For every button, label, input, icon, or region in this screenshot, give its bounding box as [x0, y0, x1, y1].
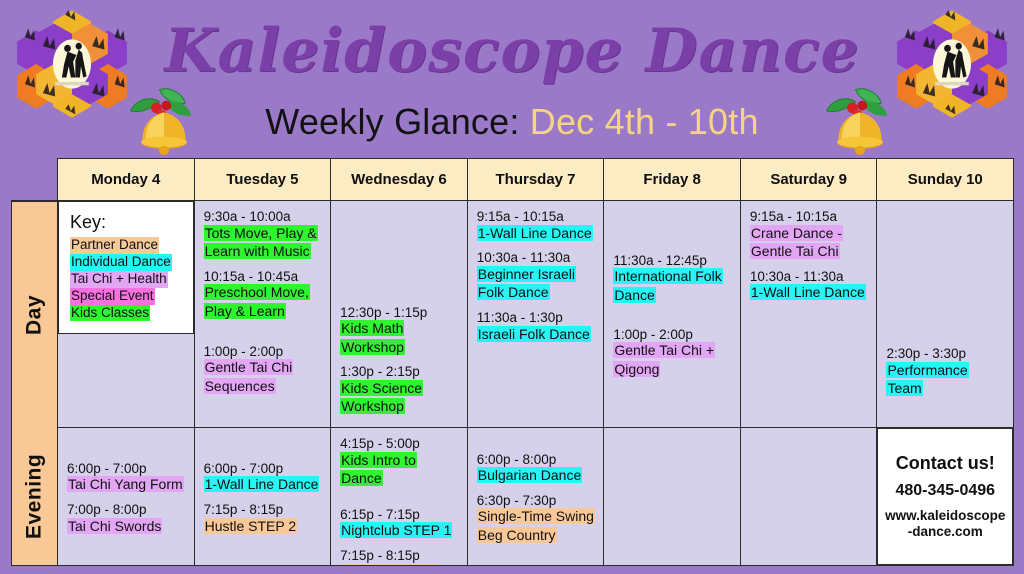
event-time: 6:30p - 7:30p	[477, 493, 595, 509]
cell-saturday-evening	[741, 428, 877, 565]
cell-monday-evening: 6:00p - 7:00p Tai Chi Yang Form 7:00p - …	[58, 428, 194, 565]
event-name: Kids Science Workshop	[340, 380, 423, 415]
event-time: 6:00p - 7:00p	[67, 461, 185, 477]
key-item-tai-chi-health: Tai Chi + Health	[70, 271, 168, 288]
column-wednesday: 12:30p - 1:15p Kids Math Workshop 1:30p …	[331, 201, 468, 565]
event-time: 10:15a - 10:45a	[204, 269, 322, 285]
event-name: Kids Intro to Dance	[340, 452, 417, 487]
event-name: Nightclub STEP 1	[340, 522, 452, 538]
contact-website[interactable]: www.kaleidoscope -dance.com	[885, 508, 1005, 540]
event-item[interactable]: 11:30a - 1:30p Israeli Folk Dance	[477, 310, 595, 344]
event-name: Kids Math Workshop	[340, 320, 405, 355]
event-time: 10:30a - 11:30a	[750, 269, 868, 285]
event-time: 9:30a - 10:00a	[204, 209, 322, 225]
event-item[interactable]: 7:00p - 8:00p Tai Chi Swords	[67, 502, 185, 536]
event-name: Tai Chi Swords	[67, 518, 162, 534]
contact-phone[interactable]: 480-345-0496	[895, 482, 995, 500]
event-name: Crane Dance - Gentle Tai Chi	[750, 225, 843, 260]
key-item-individual-dance: Individual Dance	[70, 254, 172, 271]
legend-key-box: Key: Partner Dance Individual Dance Tai …	[58, 201, 194, 334]
column-saturday: 9:15a - 10:15a Crane Dance - Gentle Tai …	[741, 201, 878, 565]
event-name: Preschool Move, Play & Learn	[204, 284, 310, 319]
event-item[interactable]: 6:00p - 8:00p Bulgarian Dance	[477, 452, 595, 486]
cell-thursday-evening: 6:00p - 8:00p Bulgarian Dance 6:30p - 7:…	[468, 428, 604, 565]
event-time: 6:00p - 7:00p	[204, 461, 322, 477]
event-name: Bulgarian Dance	[477, 467, 583, 483]
event-item[interactable]: 6:15p - 7:15p Nightclub STEP 1	[340, 507, 458, 541]
cell-friday-day: 11:30a - 12:45p International Folk Dance…	[604, 201, 740, 428]
cell-sunday-day: 2:30p - 3:30p Performance Team	[877, 201, 1013, 428]
subtitle-label: Weekly Glance:	[265, 101, 519, 142]
event-time: 6:00p - 8:00p	[477, 452, 595, 468]
cell-thursday-day: 9:15a - 10:15a 1-Wall Line Dance 10:30a …	[468, 201, 604, 428]
event-name: 1-Wall Line Dance	[204, 476, 320, 492]
contact-heading: Contact us!	[896, 453, 995, 474]
event-item[interactable]: 1:30p - 2:15p Kids Science Workshop	[340, 364, 458, 417]
event-name: International Folk Dance	[613, 268, 722, 303]
event-item[interactable]: 7:15p - 8:15p Foxtrot STEP 2	[340, 548, 458, 565]
schedule-body: Day Evening Key: Partner Dance Individua…	[11, 200, 1014, 566]
cell-monday-day: Key: Partner Dance Individual Dance Tai …	[58, 201, 194, 428]
cell-saturday-day: 9:15a - 10:15a Crane Dance - Gentle Tai …	[741, 201, 877, 428]
cell-tuesday-day: 9:30a - 10:00a Tots Move, Play & Learn w…	[195, 201, 331, 428]
key-item-partner-dance: Partner Dance	[70, 237, 159, 254]
event-name: Tots Move, Play & Learn with Music	[204, 225, 318, 260]
event-item[interactable]: 4:15p - 5:00p Kids Intro to Dance	[340, 436, 458, 489]
event-time: 1:00p - 2:00p	[204, 344, 322, 360]
column-monday: Key: Partner Dance Individual Dance Tai …	[58, 201, 195, 565]
page-title: Kaleidoscope Dance	[0, 16, 1024, 86]
event-item[interactable]: 1:00p - 2:00p Gentle Tai Chi + Qigong	[613, 327, 731, 380]
subtitle-dates: Dec 4th - 10th	[530, 101, 759, 142]
event-time: 9:15a - 10:15a	[477, 209, 595, 225]
event-name: Single-Time Swing Beg Country	[477, 508, 595, 543]
event-name: Beginner Israeli Folk Dance	[477, 266, 576, 301]
event-time: 9:15a - 10:15a	[750, 209, 868, 225]
event-item[interactable]: 9:15a - 10:15a 1-Wall Line Dance	[477, 209, 595, 243]
event-name: Hustle STEP 2	[204, 518, 298, 534]
day-columns: Key: Partner Dance Individual Dance Tai …	[58, 201, 1013, 565]
event-time: 1:00p - 2:00p	[613, 327, 731, 343]
event-item[interactable]: 6:30p - 7:30p Single-Time Swing Beg Coun…	[477, 493, 595, 546]
event-name: Foxtrot STEP 2	[340, 564, 437, 565]
event-time: 6:15p - 7:15p	[340, 507, 458, 523]
cell-sunday-evening: Contact us! 480-345-0496 www.kaleidoscop…	[877, 428, 1013, 565]
event-item[interactable]: 9:30a - 10:00a Tots Move, Play & Learn w…	[204, 209, 322, 262]
column-header-wednesday: Wednesday 6	[331, 159, 468, 200]
event-item[interactable]: 7:15p - 8:15p Hustle STEP 2	[204, 502, 322, 536]
event-name: 1-Wall Line Dance	[477, 225, 593, 241]
page-subtitle: Weekly Glance: Dec 4th - 10th	[0, 101, 1024, 143]
cell-friday-evening	[604, 428, 740, 565]
contact-box: Contact us! 480-345-0496 www.kaleidoscop…	[877, 428, 1013, 565]
event-time: 2:30p - 3:30p	[886, 346, 1004, 362]
column-tuesday: 9:30a - 10:00a Tots Move, Play & Learn w…	[195, 201, 332, 565]
event-time: 7:15p - 8:15p	[340, 548, 458, 564]
event-name: Tai Chi Yang Form	[67, 476, 184, 492]
column-header-tuesday: Tuesday 5	[195, 159, 332, 200]
column-header-saturday: Saturday 9	[741, 159, 878, 200]
event-item[interactable]: 9:15a - 10:15a Crane Dance - Gentle Tai …	[750, 209, 868, 262]
cell-wednesday-day: 12:30p - 1:15p Kids Math Workshop 1:30p …	[331, 201, 467, 428]
event-time: 7:00p - 8:00p	[67, 502, 185, 518]
event-item[interactable]: 6:00p - 7:00p Tai Chi Yang Form	[67, 461, 185, 495]
key-item-special-event: Special Event	[70, 288, 155, 305]
event-time: 4:15p - 5:00p	[340, 436, 458, 452]
event-name: Performance Team	[886, 362, 968, 397]
contact-website-line1: www.kaleidoscope	[885, 508, 1005, 523]
event-item[interactable]: 10:30a - 11:30a Beginner Israeli Folk Da…	[477, 250, 595, 303]
column-friday: 11:30a - 12:45p International Folk Dance…	[604, 201, 741, 565]
event-item[interactable]: 1:00p - 2:00p Gentle Tai Chi Sequences	[204, 344, 322, 397]
event-item[interactable]: 10:15a - 10:45a Preschool Move, Play & L…	[204, 269, 322, 322]
event-time: 12:30p - 1:15p	[340, 305, 458, 321]
contact-website-line2: -dance.com	[908, 524, 983, 539]
column-header-friday: Friday 8	[604, 159, 741, 200]
event-name: Gentle Tai Chi + Qigong	[613, 342, 715, 377]
event-item[interactable]: 10:30a - 11:30a 1-Wall Line Dance	[750, 269, 868, 303]
row-label-column: Day Evening	[12, 201, 58, 565]
event-time: 10:30a - 11:30a	[477, 250, 595, 266]
event-item[interactable]: 2:30p - 3:30p Performance Team	[886, 346, 1004, 399]
column-header-monday: Monday 4	[58, 159, 195, 200]
event-time: 7:15p - 8:15p	[204, 502, 322, 518]
event-time: 11:30a - 1:30p	[477, 310, 595, 326]
event-name: Gentle Tai Chi Sequences	[204, 359, 294, 394]
key-item-kids-classes: Kids Classes	[70, 305, 150, 322]
weekly-schedule-grid: Monday 4 Tuesday 5 Wednesday 6 Thursday …	[11, 158, 1014, 566]
event-item[interactable]: 11:30a - 12:45p International Folk Dance	[613, 253, 731, 306]
event-time: 11:30a - 12:45p	[613, 253, 731, 269]
cell-wednesday-evening: 4:15p - 5:00p Kids Intro to Dance 6:15p …	[331, 428, 467, 565]
day-header-row: Monday 4 Tuesday 5 Wednesday 6 Thursday …	[57, 158, 1014, 200]
column-header-sunday: Sunday 10	[877, 159, 1013, 200]
event-item[interactable]: 6:00p - 7:00p 1-Wall Line Dance	[204, 461, 322, 495]
event-item[interactable]: 12:30p - 1:15p Kids Math Workshop	[340, 305, 458, 358]
column-header-thursday: Thursday 7	[468, 159, 605, 200]
column-thursday: 9:15a - 10:15a 1-Wall Line Dance 10:30a …	[468, 201, 605, 565]
event-time: 1:30p - 2:15p	[340, 364, 458, 380]
row-label-evening: Evening	[12, 428, 57, 565]
cell-tuesday-evening: 6:00p - 7:00p 1-Wall Line Dance 7:15p - …	[195, 428, 331, 565]
row-label-day: Day	[12, 201, 57, 428]
grid-corner-spacer	[11, 158, 57, 200]
event-name: Israeli Folk Dance	[477, 326, 591, 342]
key-title: Key:	[70, 212, 182, 233]
event-name: 1-Wall Line Dance	[750, 284, 866, 300]
page-header: Kaleidoscope Dance Weekly Glance: Dec 4t…	[0, 0, 1024, 158]
column-sunday: 2:30p - 3:30p Performance Team Contact u…	[877, 201, 1013, 565]
